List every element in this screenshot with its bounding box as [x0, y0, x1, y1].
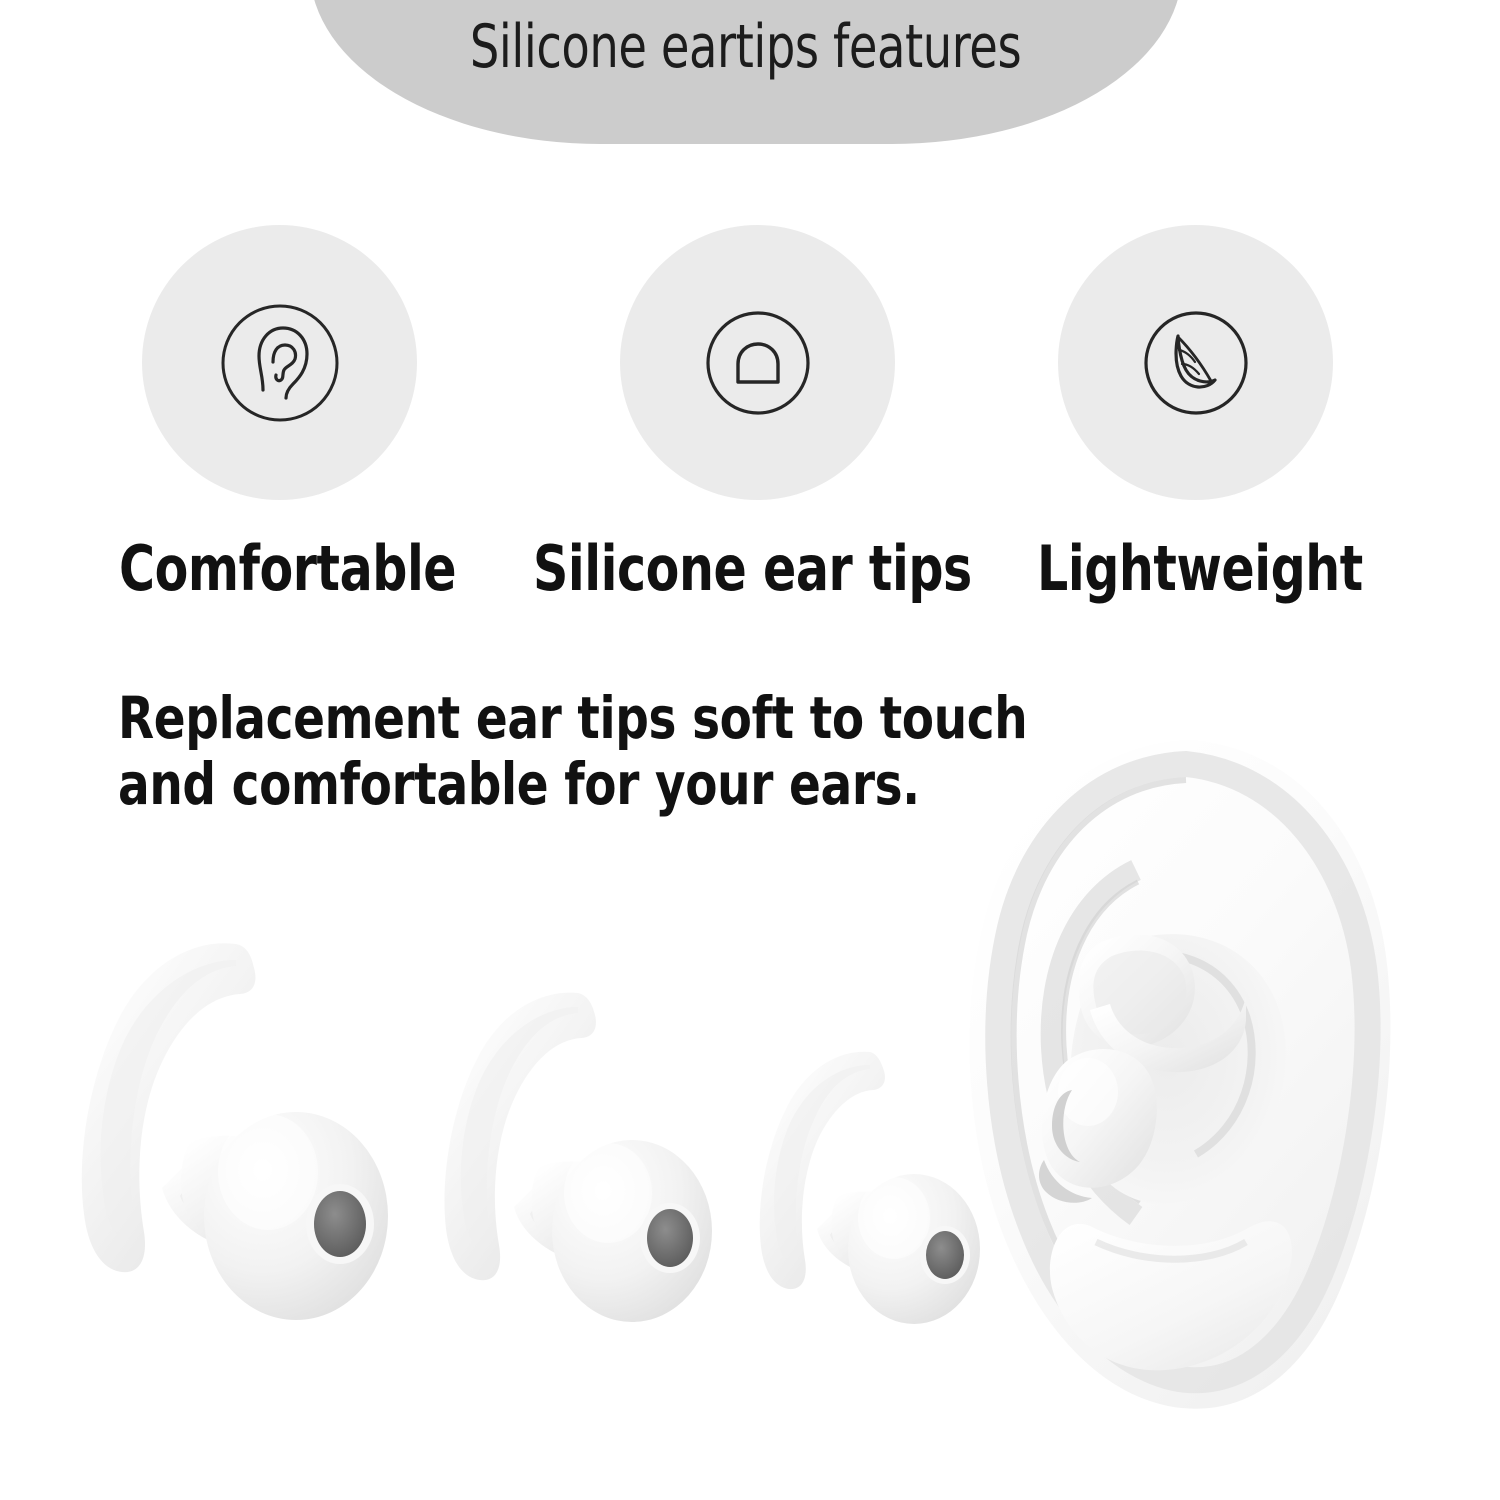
- feature-item-comfortable: [142, 225, 417, 500]
- header-banner: Silicone eartips features: [310, 0, 1182, 144]
- feature-item-lightweight: [1058, 225, 1333, 500]
- ear-icon: [215, 298, 345, 428]
- product-size-group: [0, 880, 1000, 1330]
- feature-label-silicone-ear-tips: Silicone ear tips: [533, 532, 972, 605]
- eartip-medium: [408, 965, 738, 1330]
- eartip-large: [40, 910, 420, 1330]
- feature-label-row: Comfortable Silicone ear tips Lightweigh…: [0, 532, 1500, 602]
- description-line-2: and comfortable for your ears.: [118, 751, 1018, 817]
- description-line-1: Replacement ear tips soft to touch: [118, 685, 1018, 751]
- page-title: Silicone eartips features: [470, 12, 1021, 82]
- product-infographic: Silicone eartips features: [0, 0, 1500, 1500]
- feature-item-silicone-ear-tips: [620, 225, 895, 500]
- feature-label-lightweight: Lightweight: [1037, 532, 1363, 605]
- ear-with-eartip-photo: [940, 730, 1440, 1420]
- feather-icon: [1131, 298, 1261, 428]
- eartip-icon: [693, 298, 823, 428]
- feature-icon-row: [0, 225, 1500, 515]
- feature-label-comfortable: Comfortable: [119, 532, 456, 605]
